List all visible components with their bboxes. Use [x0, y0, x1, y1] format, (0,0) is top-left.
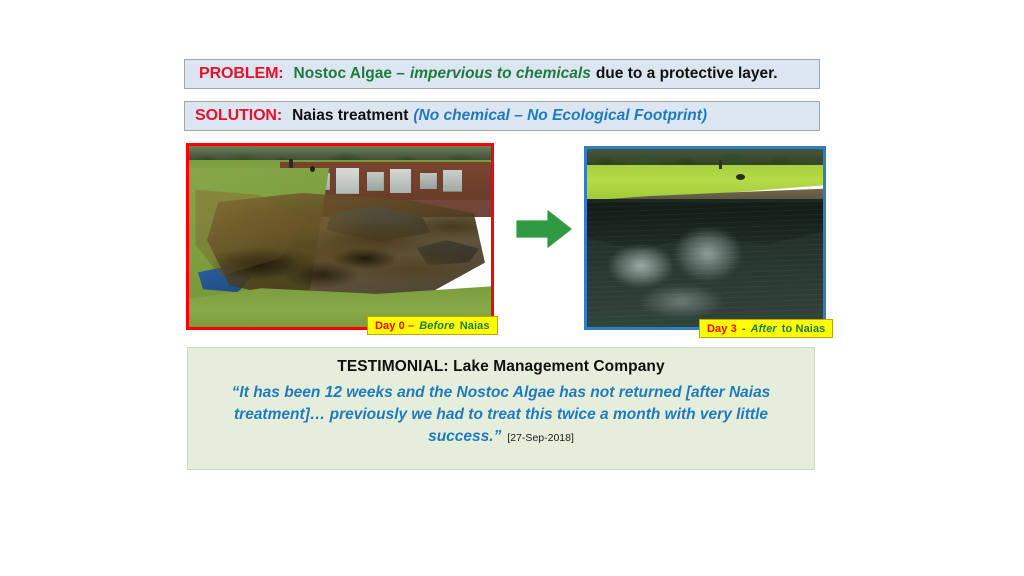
caption-state-emphasis: After [751, 323, 777, 335]
photo-after-treatment [584, 146, 826, 330]
problem-label: PROBLEM: [199, 65, 284, 83]
photo-before-scene [189, 146, 491, 327]
photo-before-treatment [186, 143, 494, 330]
caption-day-label: Day 3 [707, 323, 737, 335]
solution-text-emphasis: (No chemical – No Ecological Footprint) [413, 107, 707, 125]
green-right-arrow-icon [515, 208, 573, 250]
problem-text-green: Nostoc Algae – [294, 65, 405, 83]
shore-object [310, 166, 315, 172]
solution-banner: SOLUTION: Naias treatment (No chemical –… [184, 101, 820, 131]
caption-day-label: Day 0 – [375, 320, 414, 332]
solution-label: SOLUTION: [195, 107, 282, 125]
person-figure [719, 160, 722, 169]
caption-product-name: to Naias [782, 323, 826, 335]
testimonial-quote-text: “It has been 12 weeks and the Nostoc Alg… [232, 384, 771, 445]
solution-text-black: Naias treatment [292, 107, 408, 125]
caption-day0-before: Day 0 – Before Naias [367, 316, 498, 335]
testimonial-quote-wrapper: “It has been 12 weeks and the Nostoc Alg… [216, 382, 786, 448]
photo-after-scene [587, 149, 823, 327]
testimonial-box: TESTIMONIAL: Lake Management Company “It… [187, 347, 815, 470]
water-ripples [587, 202, 823, 327]
caption-state-emphasis: Before [419, 320, 454, 332]
caption-day3-after: Day 3 - After to Naias [699, 319, 833, 338]
problem-text-black: due to a protective layer. [596, 65, 778, 83]
testimonial-date: [27-Sep-2018] [507, 432, 574, 444]
problem-text-emphasis: impervious to chemicals [410, 65, 591, 83]
problem-banner: PROBLEM: Nostoc Algae – impervious to ch… [184, 59, 820, 89]
shore-object [736, 174, 745, 180]
caption-product-name: Naias [460, 320, 490, 332]
caption-dash: - [742, 323, 746, 335]
person-figure [289, 159, 293, 168]
testimonial-title: TESTIMONIAL: Lake Management Company [216, 358, 786, 376]
